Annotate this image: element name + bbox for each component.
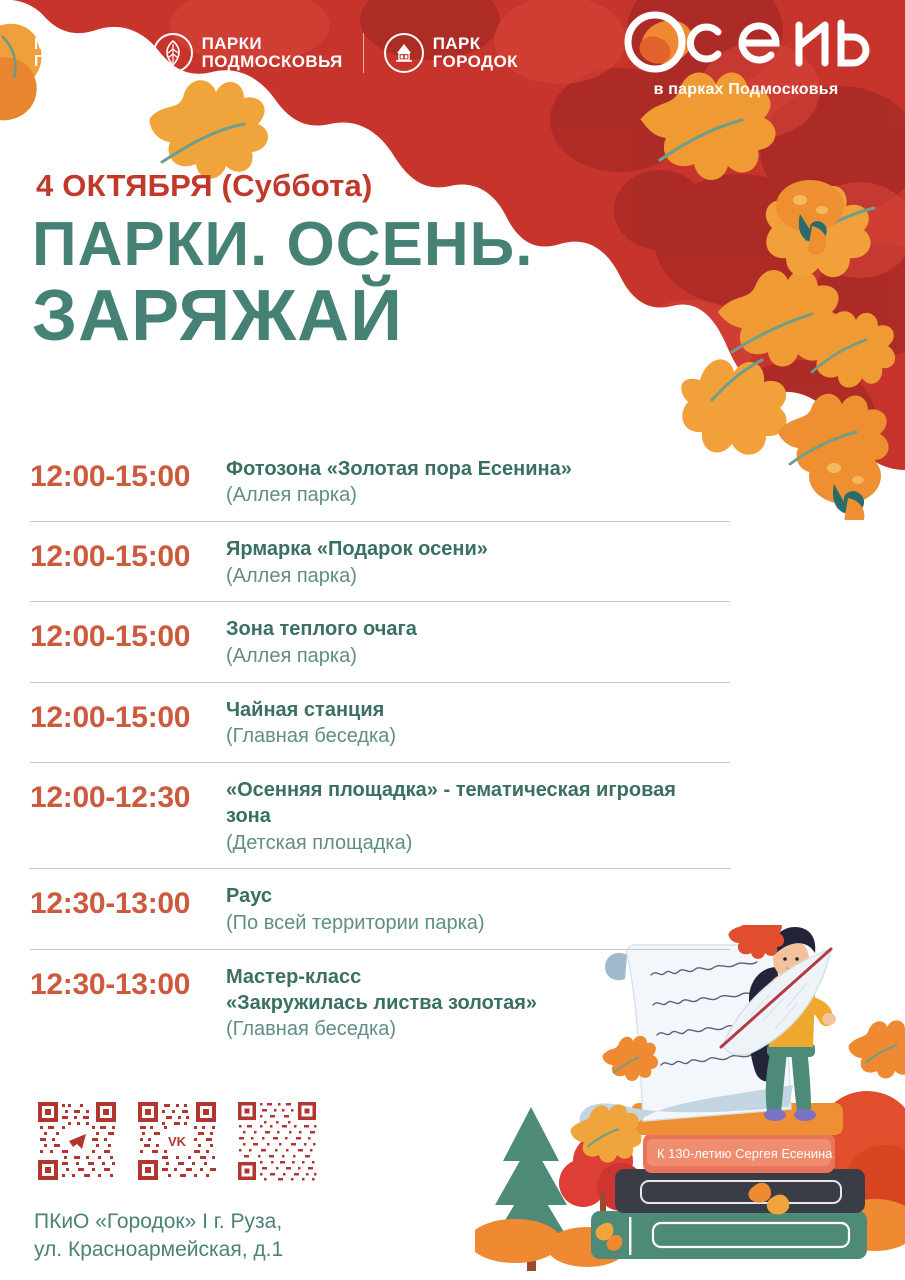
vk-icon: VK — [168, 1134, 187, 1149]
schedule-row: 12:30-13:00 Мастер-класс «Закружилась ли… — [30, 949, 730, 1056]
mosobpark-line1: МОСОБ> — [34, 37, 107, 53]
schedule-event-subtitle: «Закружилась листва золотая» — [226, 990, 726, 1016]
schedule-event: «Осенняя площадка» - тематическая игрова… — [226, 777, 730, 857]
schedule-time: 12:00-15:00 — [30, 456, 226, 493]
svg-text:VK: VK — [168, 1134, 187, 1149]
schedule-event-title: Мастер-класс — [226, 964, 726, 990]
mosobpark-line2: ПАРК — [34, 54, 107, 70]
schedule-event-place: (Аллея парка) — [226, 563, 726, 590]
title-line-2: ЗАРЯЖАЙ — [32, 278, 533, 354]
schedule-row: 12:00-15:00 Чайная станция (Главная бесе… — [30, 682, 730, 762]
event-date: 4 ОКТЯБРЯ (Суббота) — [36, 168, 373, 204]
address-line-1: ПКиО «Городок» I г. Руза, — [34, 1208, 283, 1236]
qr-code-group: VK — [34, 1098, 320, 1184]
schedule-event-place: (Аллея парка) — [226, 482, 726, 509]
schedule-event-place: (Детская площадка) — [226, 830, 726, 857]
schedule-event: Мастер-класс «Закружилась листва золотая… — [226, 964, 730, 1044]
schedule-row: 12:00-12:30 «Осенняя площадка» - тематич… — [30, 762, 730, 869]
schedule-event-title: «Осенняя площадка» - тематическая игрова… — [226, 777, 726, 830]
schedule-event-place: (По всей территории парка) — [226, 910, 726, 937]
book-spine-text: К 130-летию Сергея Есенина — [657, 1146, 833, 1161]
schedule-event: Ярмарка «Подарок осени» (Аллея парка) — [226, 536, 730, 589]
logo-mosobpark: МОСОБ> ПАРК — [34, 35, 107, 70]
title-line-1: ПАРКИ. ОСЕНЬ. — [32, 212, 533, 278]
parki-line1: ПАРКИ — [202, 35, 343, 52]
leaf-maple-5 — [681, 359, 786, 454]
schedule-row: 12:30-13:00 Раус (По всей территории пар… — [30, 868, 730, 948]
schedule-event: Чайная станция (Главная беседка) — [226, 697, 730, 750]
leaf-falling-2 — [849, 1020, 905, 1078]
schedule-event-place: (Главная беседка) — [226, 723, 726, 750]
parki-line2: ПОДМОСКОВЬЯ — [202, 53, 343, 70]
campaign-logo: в парках Подмосковья — [615, 8, 877, 99]
schedule-list: 12:00-15:00 Фотозона «Золотая пора Есени… — [30, 448, 730, 1055]
page-title: ПАРКИ. ОСЕНЬ. ЗАРЯЖАЙ — [32, 212, 533, 354]
schedule-time: 12:00-15:00 — [30, 536, 226, 573]
qr-plain[interactable] — [234, 1098, 320, 1184]
gazebo-emblem-icon — [384, 33, 424, 73]
leaf-maple-4 — [766, 182, 874, 277]
poster: МОСОБ> ПАРК ПАРКИ ПОДМОСКОВЬЯ — [0, 0, 905, 1280]
schedule-event-title: Фотозона «Золотая пора Есенина» — [226, 456, 726, 482]
schedule-time: 12:30-13:00 — [30, 964, 226, 1001]
logo-parki-podmoskovya: ПАРКИ ПОДМОСКОВЬЯ — [153, 33, 343, 73]
schedule-row: 12:00-15:00 Ярмарка «Подарок осени» (Алл… — [30, 521, 730, 601]
schedule-time: 12:30-13:00 — [30, 883, 226, 920]
gorodok-line2: ГОРОДОК — [433, 53, 518, 70]
mushroom-2 — [809, 448, 881, 520]
leaf-emblem-icon — [153, 33, 193, 73]
mushroom-1 — [776, 180, 844, 255]
book-bottom — [591, 1211, 867, 1259]
qr-vk[interactable]: VK — [134, 1098, 220, 1184]
schedule-event: Раус (По всей территории парка) — [226, 883, 730, 936]
schedule-row: 12:00-15:00 Зона теплого очага (Аллея па… — [30, 601, 730, 681]
schedule-time: 12:00-15:00 — [30, 616, 226, 653]
qr-telegram[interactable] — [34, 1098, 120, 1184]
schedule-time: 12:00-15:00 — [30, 697, 226, 734]
schedule-event: Фотозона «Золотая пора Есенина» (Аллея п… — [226, 456, 730, 509]
gorodok-line1: ПАРК — [433, 35, 518, 52]
schedule-event-title: Чайная станция — [226, 697, 726, 723]
campaign-subtitle: в парках Подмосковья — [615, 81, 877, 99]
logo-group: МОСОБ> ПАРК ПАРКИ ПОДМОСКОВЬЯ — [0, 33, 518, 73]
leaf-oak-3 — [718, 270, 842, 367]
schedule-event-title: Зона теплого очага — [226, 616, 726, 642]
book-navy — [615, 1169, 865, 1213]
schedule-event-place: (Аллея парка) — [226, 643, 726, 670]
schedule-time: 12:00-12:30 — [30, 777, 226, 814]
schedule-event-title: Ярмарка «Подарок осени» — [226, 536, 726, 562]
logo-park-gorodok: ПАРК ГОРОДОК — [384, 33, 518, 73]
schedule-event: Зона теплого очага (Аллея парка) — [226, 616, 730, 669]
address-line-2: ул. Красноармейская, д.1 — [34, 1236, 283, 1264]
schedule-event-place: (Главная беседка) — [226, 1016, 726, 1043]
leaf-small-7 — [800, 311, 895, 387]
logo-divider — [363, 33, 364, 73]
leaf-oak-6 — [778, 394, 889, 483]
schedule-event-title: Раус — [226, 883, 726, 909]
venue-address: ПКиО «Городок» I г. Руза, ул. Красноарме… — [34, 1208, 283, 1265]
schedule-row: 12:00-15:00 Фотозона «Золотая пора Есени… — [30, 448, 730, 521]
osen-wordmark-icon — [615, 8, 877, 80]
